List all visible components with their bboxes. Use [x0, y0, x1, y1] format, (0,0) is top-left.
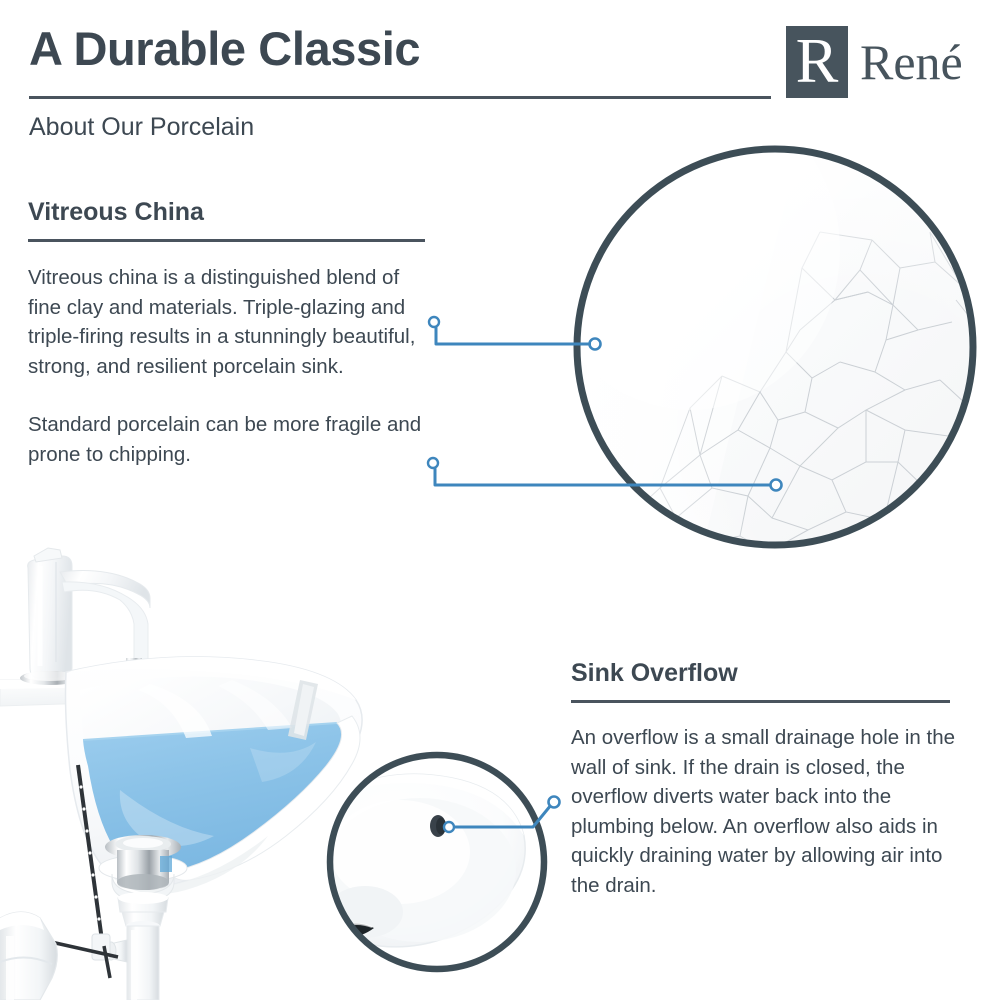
- section-divider-sink-overflow: [571, 700, 950, 703]
- callout-leader-lines-overflow: [452, 805, 551, 827]
- overflow-detail-circle: [315, 755, 544, 969]
- paragraph: Vitreous china is a distinguished blend …: [28, 263, 428, 381]
- callout-dot-start-overflow: [444, 822, 454, 832]
- paragraph: An overflow is a small drainage hole in …: [571, 723, 956, 900]
- logo-letter: R: [786, 26, 848, 98]
- section-body-vitreous-china: Vitreous china is a distinguished blend …: [28, 263, 428, 469]
- section-body-sink-overflow: An overflow is a small drainage hole in …: [571, 723, 956, 900]
- overflow-hole: [430, 815, 446, 837]
- title-divider: [29, 96, 771, 99]
- sink-basin: [66, 654, 373, 894]
- page-title: A Durable Classic: [29, 24, 420, 73]
- callout-dot-end-crazing: [771, 480, 782, 491]
- overflow-channel: [288, 680, 318, 740]
- callout-dot-start-crazing: [428, 458, 438, 468]
- pop-up-drain-assembly: [99, 835, 187, 1000]
- paragraph: Standard porcelain can be more fragile a…: [28, 410, 428, 469]
- brand-logo: R René: [786, 26, 972, 98]
- p-trap: [0, 912, 57, 1000]
- lift-rod-and-pivot: [2, 765, 118, 978]
- callout-leader-lines-upper: [436, 325, 576, 344]
- callout-dot-start-glaze: [429, 317, 439, 327]
- water-volume: [83, 723, 342, 873]
- callout-leader-lines-lower: [435, 466, 770, 485]
- logo-square-icon: R: [786, 26, 848, 98]
- porcelain-surface-comparison-circle: [540, 90, 980, 590]
- section-heading-sink-overflow: Sink Overflow: [571, 659, 738, 688]
- sink-cutaway-illustration: [0, 548, 372, 1000]
- callout-dot-end-glaze: [590, 339, 601, 350]
- logo-wordmark: René: [860, 32, 963, 92]
- section-heading-vitreous-china: Vitreous China: [28, 198, 204, 227]
- section-divider-vitreous-china: [28, 239, 425, 242]
- page-subtitle: About Our Porcelain: [29, 113, 254, 142]
- faucet: [20, 548, 150, 685]
- infographic-page: A Durable Classic About Our Porcelain R …: [0, 0, 1000, 1000]
- callout-dot-end-overflow: [549, 797, 560, 808]
